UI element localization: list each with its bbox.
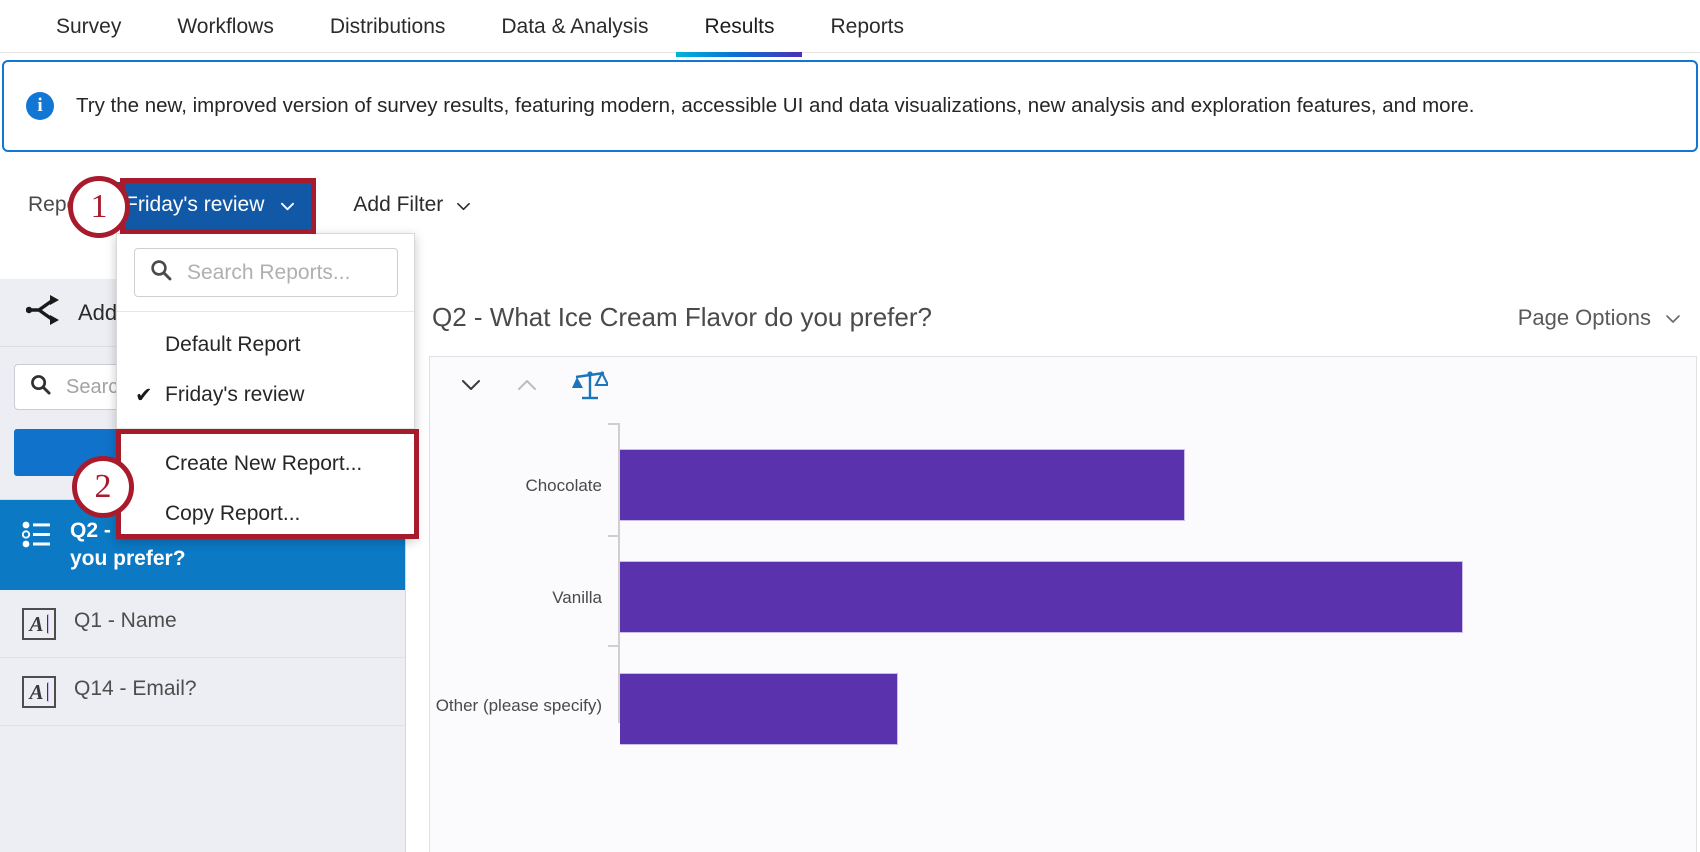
menu-item-fridays-review-label: Friday's review — [165, 383, 304, 407]
tab-workflows[interactable]: Workflows — [149, 0, 301, 57]
visualization-toolbar — [430, 357, 1696, 413]
tab-reports-label: Reports — [802, 15, 932, 39]
chevron-up-icon[interactable] — [516, 377, 538, 393]
text-entry-icon: A — [22, 676, 56, 708]
nav-tab-list: Survey Workflows Distributions Data & An… — [0, 0, 1700, 57]
visualization-card: Chocolate Vanilla Other (please specify) — [429, 356, 1697, 852]
text-entry-icon: A — [22, 608, 56, 640]
sidebar-add-label: Add — [78, 300, 117, 326]
bar-label-vanilla: Vanilla — [432, 587, 602, 608]
tab-survey-label: Survey — [28, 15, 149, 39]
annotation-marker-2-number: 2 — [95, 468, 112, 506]
menu-item-default-report[interactable]: Default Report — [117, 320, 414, 370]
active-tab-underline — [676, 52, 802, 57]
page-options-label: Page Options — [1518, 305, 1651, 331]
menu-separator — [117, 428, 414, 429]
balance-scales-icon[interactable] — [572, 369, 608, 401]
bar-other[interactable] — [620, 673, 898, 745]
bar-vanilla[interactable] — [620, 561, 1463, 633]
tab-results[interactable]: Results — [676, 0, 802, 57]
tab-data-and-analysis-label: Data & Analysis — [473, 15, 676, 39]
axis-tick — [608, 423, 619, 425]
menu-item-copy-report-label: Copy Report... — [165, 502, 300, 526]
axis-tick — [608, 645, 619, 647]
add-filter-label: Add Filter — [353, 193, 443, 217]
tab-distributions-label: Distributions — [302, 15, 474, 39]
info-banner-text: Try the new, improved version of survey … — [76, 94, 1475, 118]
info-banner: i Try the new, improved version of surve… — [2, 60, 1698, 152]
axis-tick — [608, 535, 619, 537]
menu-item-default-report-label: Default Report — [165, 333, 300, 357]
sidebar-item-q14[interactable]: A Q14 - Email? — [0, 658, 405, 726]
bar-group-other: Other (please specify) — [620, 673, 898, 745]
bar-label-chocolate: Chocolate — [432, 475, 602, 496]
tab-results-label: Results — [676, 15, 802, 39]
report-dropdown-button[interactable]: Friday's review — [105, 182, 313, 229]
tab-survey[interactable]: Survey — [28, 0, 149, 57]
report-search-box[interactable] — [134, 248, 398, 297]
report-filter-bar: Report Friday's review Add Filter — [0, 168, 1700, 242]
sidebar-item-q14-label: Q14 - Email? — [74, 675, 197, 703]
report-dropdown-label: Friday's review — [125, 193, 264, 217]
chevron-down-icon — [280, 199, 293, 212]
tab-workflows-label: Workflows — [149, 15, 301, 39]
menu-item-create-new-report-label: Create New Report... — [165, 452, 362, 476]
page-title: Q2 - What Ice Cream Flavor do you prefer… — [432, 302, 932, 333]
bar-group-chocolate: Chocolate — [620, 449, 1185, 521]
annotation-marker-1-number: 1 — [91, 188, 108, 226]
report-search-container — [117, 234, 414, 312]
report-search-input[interactable] — [187, 261, 397, 285]
bar-group-vanilla: Vanilla — [620, 561, 1463, 633]
page-options-button[interactable]: Page Options — [1518, 305, 1678, 331]
menu-item-copy-report[interactable]: Copy Report... — [117, 489, 414, 539]
info-icon: i — [26, 92, 54, 120]
top-navigation: Survey Workflows Distributions Data & An… — [0, 0, 1700, 57]
share-split-icon — [26, 295, 60, 330]
tab-distributions[interactable]: Distributions — [302, 0, 474, 57]
annotation-marker-2: 2 — [72, 456, 134, 518]
chevron-down-icon[interactable] — [460, 377, 482, 393]
results-main-panel: Q2 - What Ice Cream Flavor do you prefer… — [407, 279, 1700, 852]
add-filter-button[interactable]: Add Filter — [353, 193, 469, 217]
bar-label-other: Other (please specify) — [432, 695, 602, 716]
bar-chocolate[interactable] — [620, 449, 1185, 521]
search-icon — [149, 258, 173, 287]
sidebar-item-q1[interactable]: A Q1 - Name — [0, 590, 405, 658]
annotation-marker-1: 1 — [68, 176, 130, 238]
tab-data-and-analysis[interactable]: Data & Analysis — [473, 0, 676, 57]
menu-item-create-new-report[interactable]: Create New Report... — [117, 439, 414, 489]
main-header: Q2 - What Ice Cream Flavor do you prefer… — [407, 279, 1700, 356]
chevron-down-icon — [456, 199, 469, 212]
multiple-choice-icon — [22, 520, 52, 555]
search-icon — [29, 373, 52, 401]
check-icon: ✔ — [135, 383, 153, 408]
sidebar-item-q1-label: Q1 - Name — [74, 607, 177, 635]
tab-reports[interactable]: Reports — [802, 0, 932, 57]
menu-item-fridays-review[interactable]: ✔ Friday's review — [117, 370, 414, 420]
bar-chart: Chocolate Vanilla Other (please specify) — [430, 413, 1696, 847]
report-dropdown-menu: Default Report ✔ Friday's review Create … — [116, 233, 415, 539]
chevron-down-icon — [1665, 311, 1678, 324]
